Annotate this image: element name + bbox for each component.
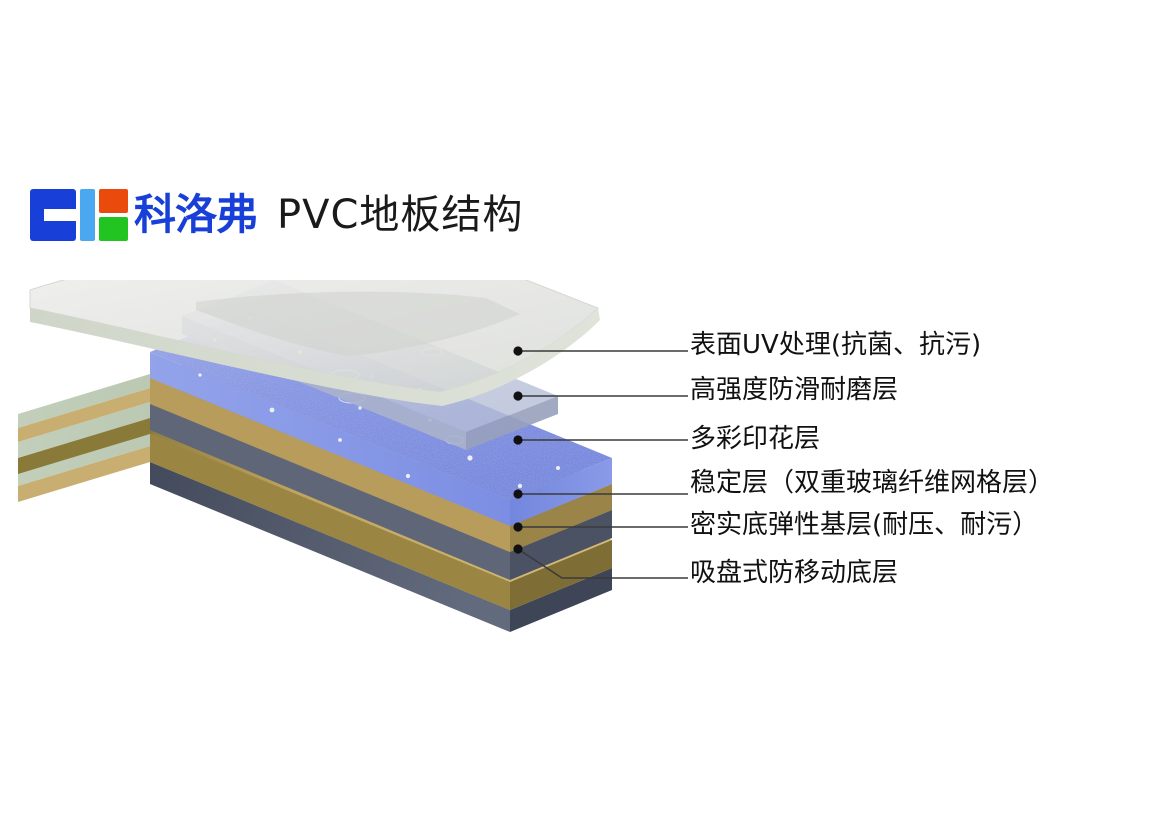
logo-green-square	[99, 217, 128, 241]
brand-name: 科洛弗	[134, 194, 257, 236]
callout-wear-label: 高强度防滑耐磨层	[690, 377, 898, 403]
callout-bottom-label: 吸盘式防移动底层	[690, 560, 898, 586]
page-title: PVC地板结构	[277, 195, 523, 235]
logo-c-shape	[30, 189, 76, 241]
callout-uv-label: 表面UV处理(抗菌、抗污)	[690, 332, 981, 358]
logo-orange-square	[99, 189, 128, 213]
callout-bottom: 吸盘式防移动底层	[690, 550, 1160, 596]
callout-stabilizer: 稳定层（双重玻璃纤维网格层）	[690, 466, 1160, 499]
callout-list: 表面UV处理(抗菌、抗污) 高强度防滑耐磨层 多彩印花层 稳定层（双重玻璃纤维网…	[690, 322, 1160, 596]
logo-lightblue-bar	[80, 189, 95, 241]
callout-base: 密实底弹性基层(耐压、耐污）	[690, 499, 1160, 550]
pvc-layer-stack-illustration	[0, 280, 720, 680]
callout-print: 多彩印花层	[690, 412, 1160, 466]
logo-c-notch	[44, 209, 76, 221]
page-header: 科洛弗 PVC地板结构	[30, 185, 523, 245]
diagram-canvas: 科洛弗 PVC地板结构	[0, 0, 1169, 824]
callout-base-label: 密实底弹性基层(耐压、耐污）	[690, 512, 1038, 538]
callout-uv: 表面UV处理(抗菌、抗污)	[690, 322, 1160, 368]
callout-stabilizer-label: 稳定层（双重玻璃纤维网格层）	[690, 470, 1054, 496]
callout-print-label: 多彩印花层	[690, 426, 820, 452]
kelofu-logo-icon	[30, 189, 128, 241]
callout-wear: 高强度防滑耐磨层	[690, 368, 1160, 412]
